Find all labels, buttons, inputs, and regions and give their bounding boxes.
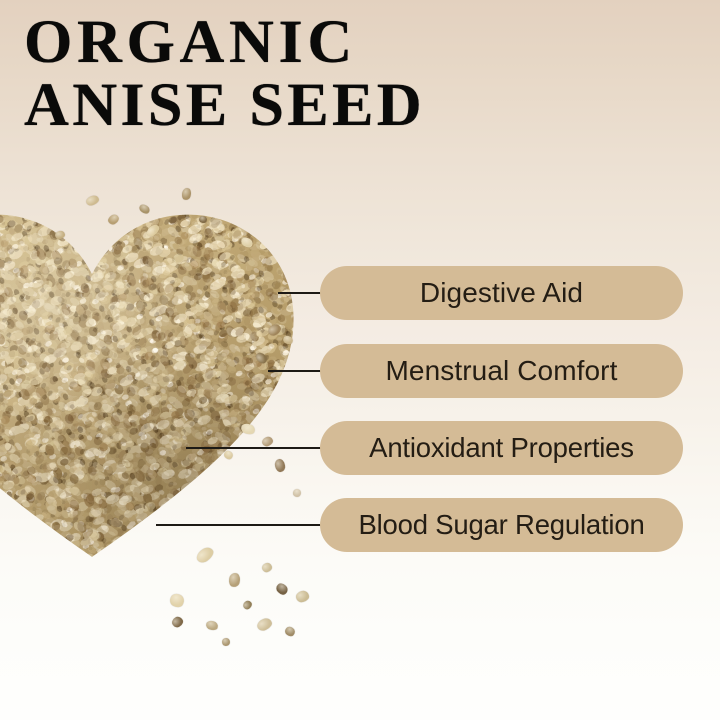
benefit-pill-1[interactable]: Digestive Aid [320,266,683,320]
seed-crumb [292,488,303,499]
seed-crumb [261,562,273,574]
poster-canvas: ORGANIC ANISE SEED Digestive AidMenstrua… [0,0,720,720]
seed-texture-layer-1 [0,196,302,568]
benefit-pill-label: Digestive Aid [420,279,583,307]
heart-edge-feather [0,196,302,568]
title-line-1: ORGANIC [24,14,425,71]
title-line-2: ANISE SEED [24,77,425,134]
seed-crumb [241,599,253,611]
seed-crumb [145,223,161,239]
seed-crumb [282,335,294,346]
seed-crumb [295,589,311,603]
callout-connector-line [186,447,338,449]
benefit-pill-4[interactable]: Blood Sugar Regulation [320,498,683,552]
seed-crumb [254,351,269,366]
seed-crumb [194,545,216,566]
seed-grain-base [0,182,316,582]
seed-crumb [255,616,273,633]
callout-connector-line [156,524,338,526]
seed-crumb [228,572,241,588]
seed-crumb [138,203,152,216]
seed-crumb [181,187,192,201]
benefit-pill-label: Antioxidant Properties [369,434,634,462]
benefit-pill-label: Blood Sugar Regulation [358,511,644,539]
seed-crumb [85,194,100,207]
seed-crumb [54,230,66,240]
heart-shading [0,196,302,568]
seed-crumb [274,458,286,473]
seed-crumb [222,638,231,647]
seed-crumb [266,322,282,337]
seed-crumb [261,435,275,448]
seed-crumb [198,215,208,224]
seed-crumb [168,592,186,610]
seed-crumb [274,581,290,597]
anise-seed-heart-image [0,196,302,568]
seed-crumb [222,449,234,461]
benefit-pill-2[interactable]: Menstrual Comfort [320,344,683,398]
benefit-pill-3[interactable]: Antioxidant Properties [320,421,683,475]
seed-crumb [283,625,296,638]
seed-crumb [205,620,219,632]
seed-crumb [106,213,120,227]
page-title: ORGANIC ANISE SEED [24,14,417,135]
seed-crumb [170,615,185,629]
benefit-pill-label: Menstrual Comfort [386,357,618,385]
seed-crumb [240,236,255,249]
seed-crumb [240,422,256,435]
